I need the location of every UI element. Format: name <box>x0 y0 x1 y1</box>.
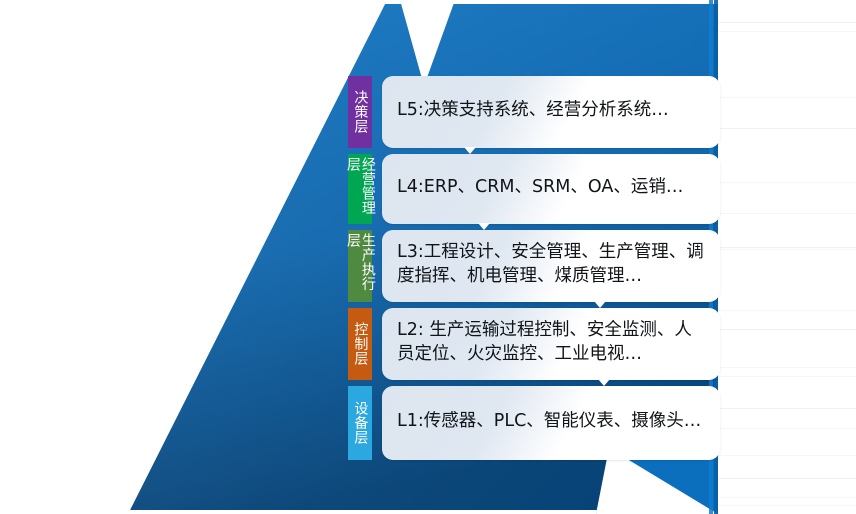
layer-tab-l1[interactable]: 设备层 <box>348 386 372 460</box>
layer-stack: 决策层L5:决策支持系统、经营分析系统…经营管理层L4:ERP、CRM、SRM、… <box>348 76 720 460</box>
diagram-canvas: 决策层L5:决策支持系统、经营分析系统…经营管理层L4:ERP、CRM、SRM、… <box>0 0 856 514</box>
layer-tab-l5[interactable]: 决策层 <box>348 76 372 148</box>
layer-card-l3[interactable]: L3:工程设计、安全管理、生产管理、调度指挥、机电管理、煤质管理… <box>382 230 720 302</box>
flow-arrow-icon <box>594 301 606 308</box>
layer-row-l3[interactable]: 生产执行层L3:工程设计、安全管理、生产管理、调度指挥、机电管理、煤质管理… <box>348 230 720 302</box>
layer-row-l2[interactable]: 控制层L2: 生产运输过程控制、安全监测、人员定位、火灾监控、工业电视… <box>348 308 720 380</box>
layer-card-l5[interactable]: L5:决策支持系统、经营分析系统… <box>382 76 720 148</box>
flow-arrow-icon <box>478 223 490 230</box>
layer-row-l5[interactable]: 决策层L5:决策支持系统、经营分析系统… <box>348 76 720 148</box>
layer-row-l1[interactable]: 设备层L1:传感器、PLC、智能仪表、摄像头… <box>348 386 720 460</box>
layer-tab-l4[interactable]: 经营管理层 <box>348 154 372 224</box>
layer-card-l1[interactable]: L1:传感器、PLC、智能仪表、摄像头… <box>382 386 720 460</box>
flow-arrow-icon <box>464 147 476 154</box>
flow-arrow-icon <box>598 379 610 386</box>
layer-tab-l2[interactable]: 控制层 <box>348 308 372 380</box>
layer-card-l4[interactable]: L4:ERP、CRM、SRM、OA、运销… <box>382 154 720 224</box>
layer-card-l2[interactable]: L2: 生产运输过程控制、安全监测、人员定位、火灾监控、工业电视… <box>382 308 720 380</box>
layer-tab-l3[interactable]: 生产执行层 <box>348 230 372 302</box>
layer-row-l4[interactable]: 经营管理层L4:ERP、CRM、SRM、OA、运销… <box>348 154 720 224</box>
